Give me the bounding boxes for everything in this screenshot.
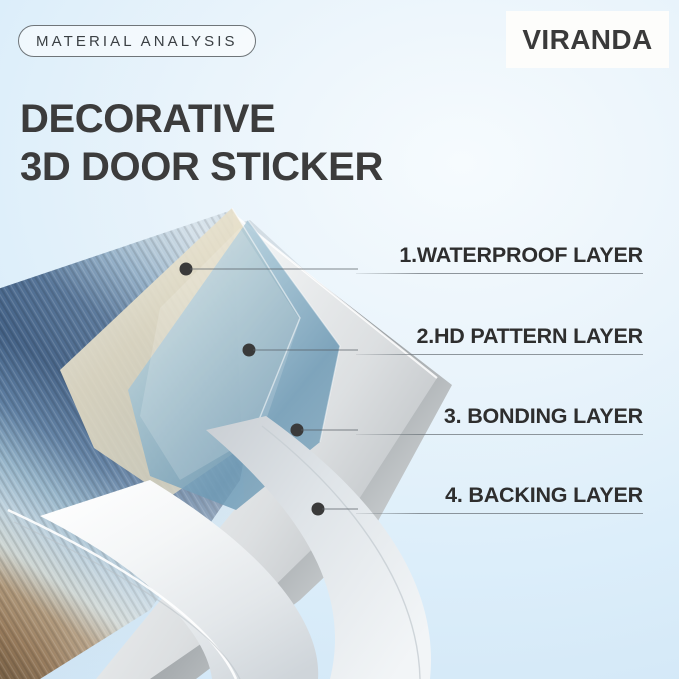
callout-rule-bonding	[356, 434, 643, 435]
page-title-line-2: 3D DOOR STICKER	[20, 143, 383, 191]
callout-leader-backing	[322, 509, 358, 510]
callout-hd-pattern: 2.HD PATTERN LAYER	[356, 324, 643, 355]
callout-label-bonding: 3. BONDING LAYER	[356, 404, 643, 434]
callout-rule-waterproof	[356, 273, 643, 274]
eyebrow-pill: MATERIAL ANALYSIS	[18, 25, 256, 57]
callout-rule-backing	[356, 513, 643, 514]
brand-logo-box: VIRANDA	[506, 11, 669, 68]
poster-canvas: MATERIAL ANALYSIS DECORATIVE 3D DOOR STI…	[0, 0, 679, 679]
callout-leader-bonding	[301, 430, 358, 431]
callout-rule-hd-pattern	[356, 354, 643, 355]
page-title-line-1: DECORATIVE	[20, 95, 383, 143]
callout-leader-waterproof	[190, 269, 358, 270]
callout-backing: 4. BACKING LAYER	[356, 483, 643, 514]
brand-name: VIRANDA	[522, 24, 652, 56]
callout-label-hd-pattern: 2.HD PATTERN LAYER	[356, 324, 643, 354]
page-title: DECORATIVE 3D DOOR STICKER	[20, 95, 383, 191]
eyebrow-label: MATERIAL ANALYSIS	[36, 33, 238, 50]
callout-waterproof: 1.WATERPROOF LAYER	[356, 243, 643, 274]
callout-label-waterproof: 1.WATERPROOF LAYER	[356, 243, 643, 273]
callout-bonding: 3. BONDING LAYER	[356, 404, 643, 435]
callout-label-backing: 4. BACKING LAYER	[356, 483, 643, 513]
callout-leader-hd-pattern	[253, 350, 358, 351]
